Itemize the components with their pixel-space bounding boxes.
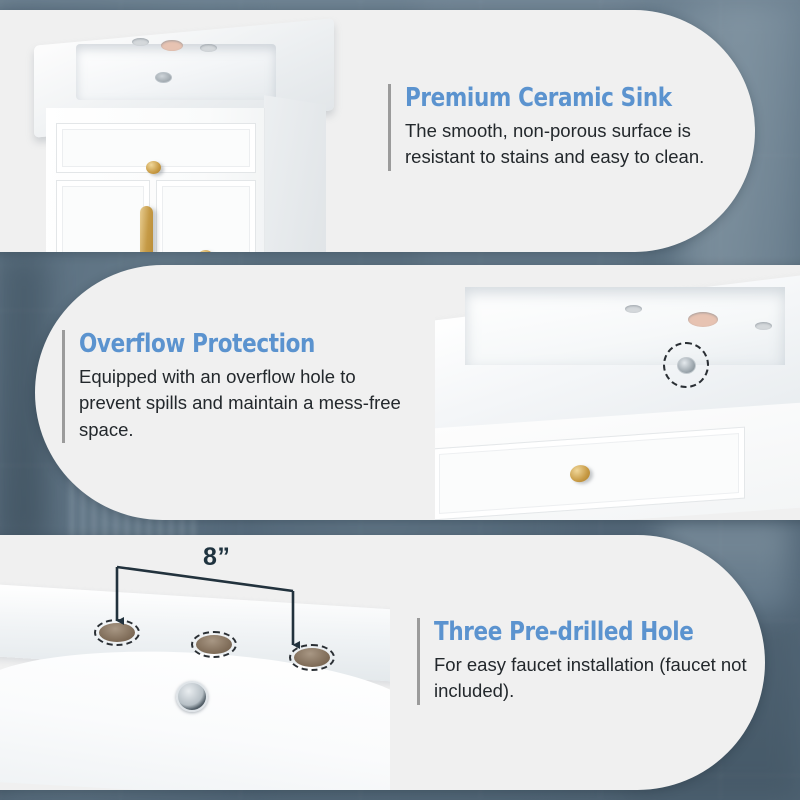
feature-body: The smooth, non-porous surface is resist…: [405, 118, 735, 171]
faucet-hole-center: [161, 40, 183, 51]
feature-panel-premium-ceramic-sink: Premium Ceramic Sink The smooth, non-por…: [0, 10, 755, 252]
faucet-hole-center: [688, 312, 718, 327]
sink-overflow-photo: [435, 265, 800, 520]
sink-basin: [465, 287, 785, 365]
feature-text-overflow-protection: Overflow Protection Equipped with an ove…: [62, 330, 419, 443]
vanity-door-right: [156, 180, 256, 252]
vanity-illustration: [28, 28, 358, 252]
vanity-basin: [76, 44, 276, 100]
hole-highlight-ring-right: [289, 644, 335, 671]
vanity-product-photo: [0, 10, 380, 252]
dimension-label-8-inch: 8”: [203, 543, 230, 572]
feature-text-premium-ceramic-sink: Premium Ceramic Sink The smooth, non-por…: [388, 84, 735, 171]
infographic-canvas: Premium Ceramic Sink The smooth, non-por…: [0, 0, 800, 800]
feature-panel-three-pre-drilled-hole: 8” Three Pre-drilled Hole For easy fauce…: [0, 535, 765, 790]
overflow-hole: [155, 72, 172, 83]
feature-headline: Overflow Protection: [79, 330, 392, 359]
drawer-knob: [146, 161, 161, 174]
feature-text-three-pre-drilled-hole: Three Pre-drilled Hole For easy faucet i…: [417, 618, 754, 705]
faucet-hole-right: [200, 44, 217, 52]
feature-panel-overflow-protection: Overflow Protection Equipped with an ove…: [35, 265, 800, 520]
faucet-hole-right: [755, 322, 772, 330]
vanity-side-panel: [264, 95, 326, 252]
hole-highlight-ring-center: [191, 631, 237, 658]
faucet-hole-left: [132, 38, 149, 46]
hole-highlight-ring-left: [94, 619, 140, 646]
sink-closeup-illustration: [435, 265, 800, 520]
sink-holes-photo: 8”: [0, 535, 390, 790]
vanity-door-left: [56, 180, 150, 252]
feature-body: For easy faucet installation (faucet not…: [434, 652, 754, 705]
overflow-hole-highlight-ring: [663, 342, 709, 388]
faucet-hole-left: [625, 305, 642, 313]
feature-headline: Premium Ceramic Sink: [405, 84, 709, 113]
vanity-drawer: [435, 427, 745, 520]
sink-deck-illustration: 8”: [0, 535, 390, 790]
overflow-hole: [176, 681, 208, 712]
feature-headline: Three Pre-drilled Hole: [434, 618, 728, 647]
feature-body: Equipped with an overflow hole to preven…: [79, 364, 419, 443]
door-handle: [140, 206, 153, 252]
